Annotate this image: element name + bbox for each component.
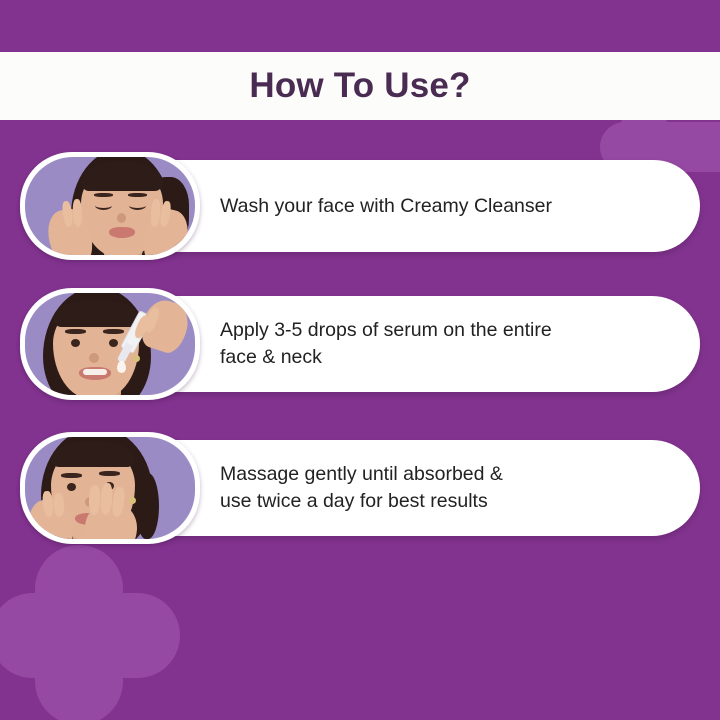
eye-right-closed — [129, 201, 146, 210]
lips — [109, 227, 135, 238]
step-card-2[interactable]: Apply 3-5 drops of serum on the entire f… — [22, 296, 700, 392]
eye-right — [109, 339, 118, 347]
step-text-1: Wash your face with Creamy Cleanser — [220, 193, 576, 220]
illustration-massage-face — [25, 437, 195, 539]
step-text-2: Apply 3-5 drops of serum on the entire f… — [220, 317, 576, 371]
step-text-3: Massage gently until absorbed & use twic… — [220, 461, 527, 515]
serum-droplet — [117, 361, 126, 373]
step-thumbnail-wash-face — [20, 152, 200, 260]
step-thumbnail-image-1 — [25, 157, 195, 255]
steps-list: Wash your face with Creamy Cleanser — [0, 0, 720, 720]
nose — [89, 353, 99, 363]
step-thumbnail-image-2 — [25, 293, 195, 395]
eyebrow-left — [65, 329, 86, 334]
eyebrow-right — [103, 329, 124, 334]
nose — [117, 213, 126, 223]
eye-left-closed — [95, 201, 112, 210]
step-thumbnail-massage-face — [20, 432, 200, 544]
earring-icon — [129, 497, 136, 504]
eyebrow-left — [61, 473, 82, 478]
finger-left-2 — [54, 493, 65, 517]
step-card-3[interactable]: Massage gently until absorbed & use twic… — [22, 440, 700, 536]
how-to-use-poster: How To Use? — [0, 0, 720, 720]
eye-left — [67, 483, 76, 491]
step-thumbnail-apply-serum — [20, 288, 200, 400]
teeth — [83, 369, 107, 375]
hair-strand — [137, 473, 159, 539]
step-thumbnail-image-3 — [25, 437, 195, 539]
illustration-apply-serum — [25, 293, 195, 395]
earring-icon — [133, 355, 140, 362]
illustration-wash-face — [25, 157, 195, 255]
eyebrow-right — [128, 193, 147, 197]
eyebrow-left — [94, 193, 113, 197]
eye-left — [71, 339, 80, 347]
eyebrow-right — [99, 471, 120, 476]
step-card-1[interactable]: Wash your face with Creamy Cleanser — [22, 160, 700, 252]
